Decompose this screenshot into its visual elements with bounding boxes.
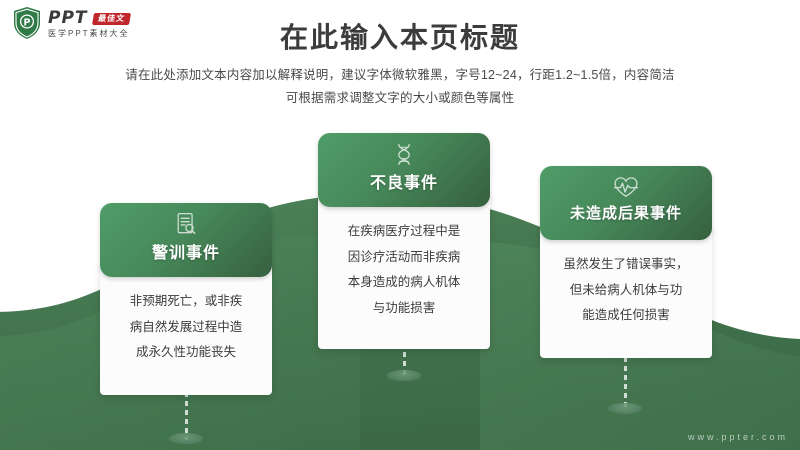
card-adverse-event-line-1: 在疾病医疗过程中是: [330, 219, 478, 245]
card-adverse-event-header[interactable]: 不良事件: [318, 133, 490, 207]
card-no-consequence-event-line-2: 但未给病人机体与功: [552, 278, 700, 304]
card-no-consequence-event-body: 虽然发生了错误事实， 但未给病人机体与功 能造成任何损害: [540, 226, 712, 358]
stem-base-3: [608, 403, 642, 414]
stem-base-2: [387, 370, 421, 381]
card-warning-event-body: 非预期死亡，或非疾 病自然发展过程中造 成永久性功能丧失: [100, 263, 272, 395]
card-adverse-event-line-2: 因诊疗活动而非疾病: [330, 245, 478, 271]
card-warning-event-line-2: 病自然发展过程中造: [112, 315, 260, 341]
card-warning-event-line-1: 非预期死亡，或非疾: [112, 289, 260, 315]
page-subtitle: 请在此处添加文本内容加以解释说明，建议字体微软雅黑，字号12~24，行距1.2~…: [0, 64, 800, 110]
card-no-consequence-event-title: 未造成后果事件: [570, 202, 682, 223]
card-adverse-event[interactable]: 不良事件 在疾病医疗过程中是 因诊疗活动而非疾病 本身造成的病人机体 与功能损害: [318, 133, 490, 349]
page-title: 在此输入本页标题: [0, 16, 800, 56]
site-watermark: www.ppter.com: [688, 432, 788, 442]
stem-base-1: [169, 433, 203, 444]
page-subtitle-line-1: 请在此处添加文本内容加以解释说明，建议字体微软雅黑，字号12~24，行距1.2~…: [0, 64, 800, 87]
card-adverse-event-title: 不良事件: [370, 169, 438, 193]
document-search-icon: [173, 210, 199, 238]
dna-helix-icon: [391, 140, 417, 168]
card-adverse-event-body: 在疾病医疗过程中是 因诊疗活动而非疾病 本身造成的病人机体 与功能损害: [318, 193, 490, 349]
card-no-consequence-event-line-1: 虽然发生了错误事实，: [552, 252, 700, 278]
card-adverse-event-line-3: 本身造成的病人机体: [330, 270, 478, 296]
card-warning-event[interactable]: 警训事件 非预期死亡，或非疾 病自然发展过程中造 成永久性功能丧失: [100, 203, 272, 395]
card-no-consequence-event[interactable]: 未造成后果事件 虽然发生了错误事实， 但未给病人机体与功 能造成任何损害: [540, 166, 712, 358]
card-no-consequence-event-line-3: 能造成任何损害: [552, 303, 700, 329]
page-subtitle-line-2: 可根据需求调整文字的大小或颜色等属性: [0, 87, 800, 110]
card-adverse-event-line-4: 与功能损害: [330, 296, 478, 322]
card-warning-event-title: 警训事件: [152, 239, 220, 263]
card-warning-event-line-3: 成永久性功能丧失: [112, 340, 260, 366]
card-no-consequence-event-header[interactable]: 未造成后果事件: [540, 166, 712, 240]
card-warning-event-header[interactable]: 警训事件: [100, 203, 272, 277]
heart-pulse-icon: [612, 173, 640, 201]
slide-canvas: P PPT 最佳文 医学PPT素材大全 在此输入本页标题 请在此处添加文本内容加…: [0, 0, 800, 450]
